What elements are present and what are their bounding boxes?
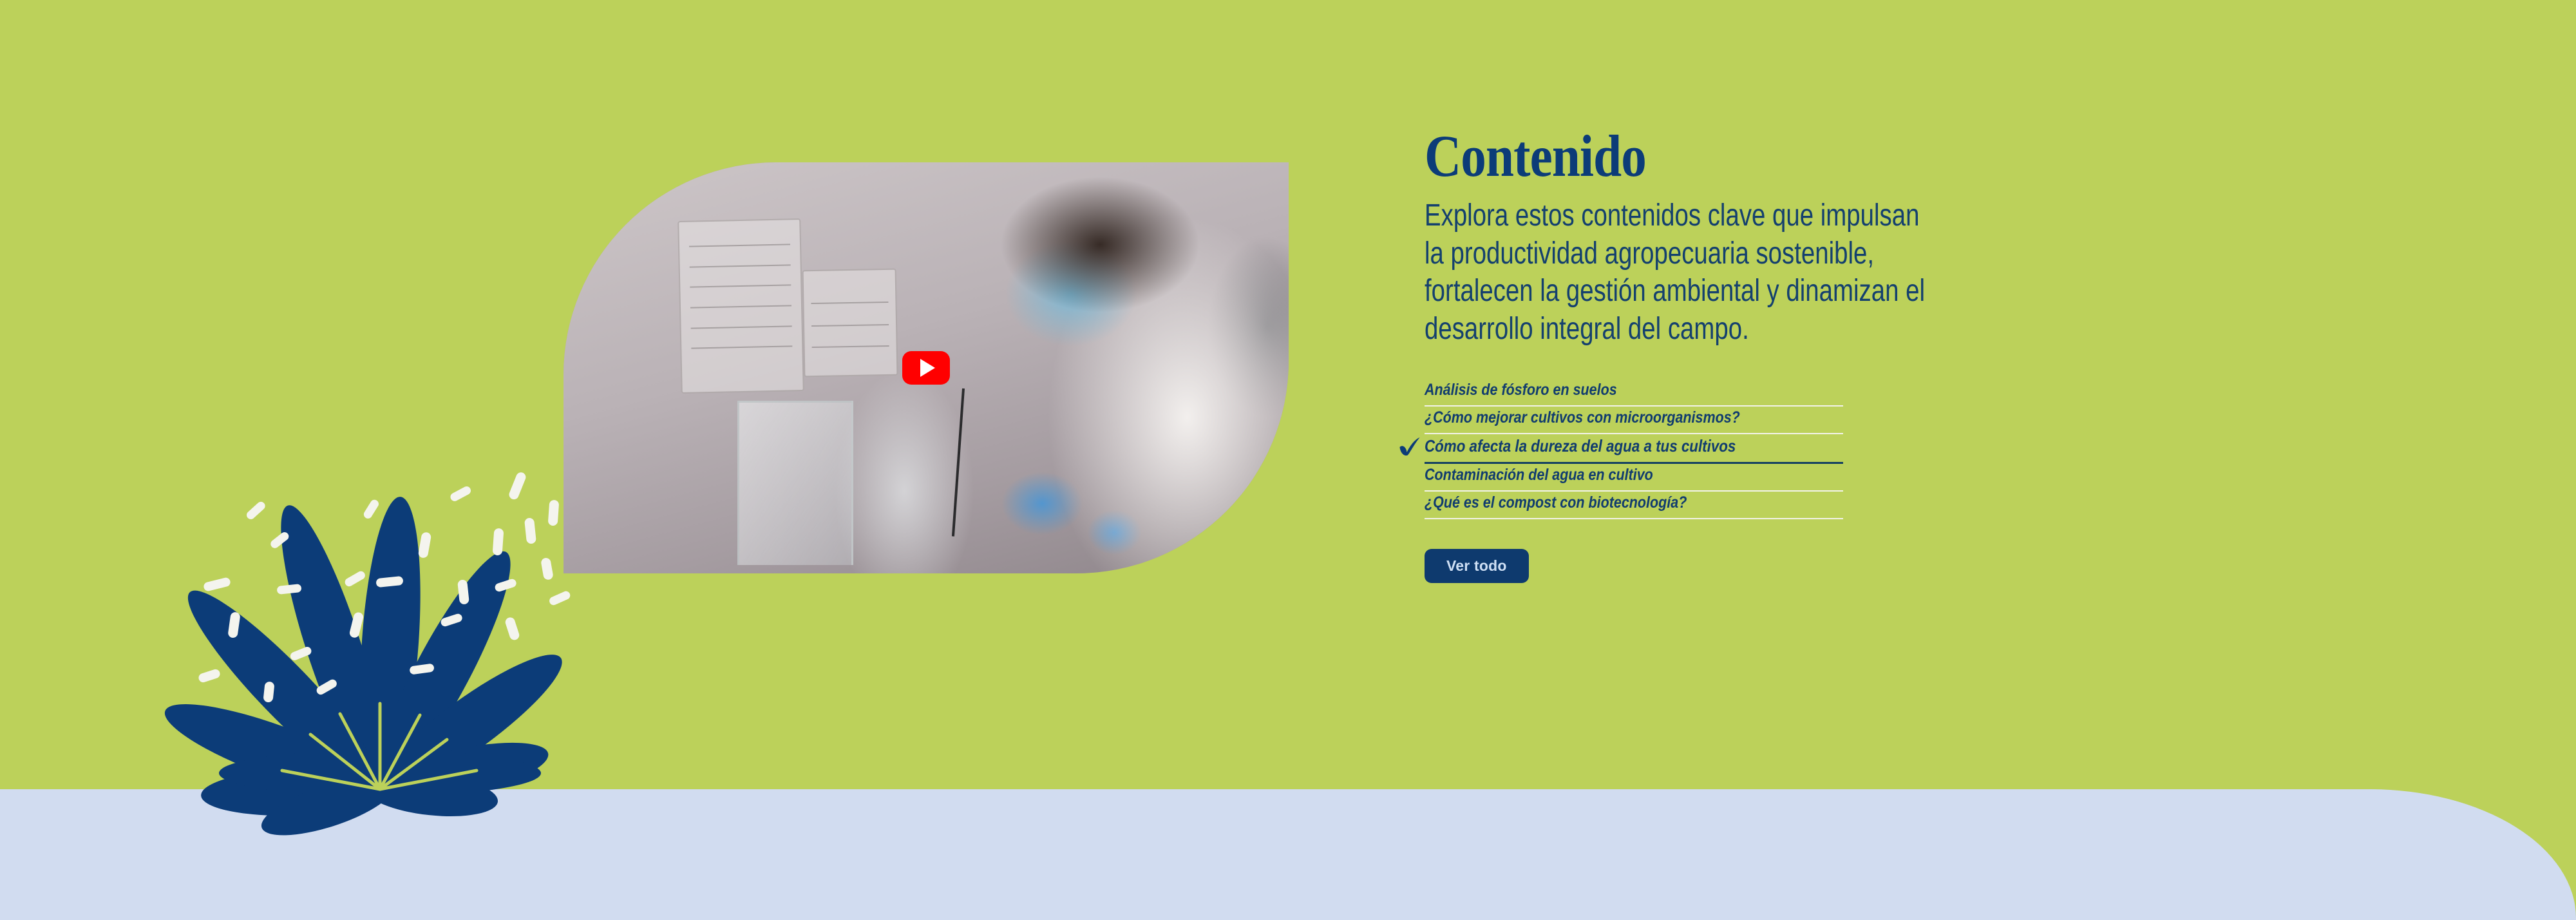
topic-list-item[interactable]: Análisis de fósforo en suelos	[1425, 379, 1843, 407]
leaf-bullet-icon	[1399, 437, 1421, 456]
topic-label: ¿Qué es el compost con biotecnología?	[1425, 494, 1687, 512]
topic-label: ¿Cómo mejorar cultivos con microorganism…	[1425, 408, 1740, 427]
see-all-button[interactable]: Ver todo	[1425, 549, 1529, 583]
content-column: Contenido Explora estos contenidos clave…	[1425, 126, 2004, 583]
topic-list-item[interactable]: Contaminación del agua en cultivo	[1425, 464, 1843, 492]
lab-glass-enclosure	[737, 401, 853, 565]
topic-label: Análisis de fósforo en suelos	[1425, 381, 1617, 399]
topic-label: Cómo afecta la dureza del agua a tus cul…	[1425, 436, 1736, 456]
topic-list-item[interactable]: ¿Qué es el compost con biotecnología?	[1425, 492, 1843, 519]
intro-paragraph: Explora estos contenidos clave que impul…	[1425, 197, 1944, 348]
video-thumbnail-card[interactable]	[563, 162, 1289, 573]
wall-poster-left	[677, 218, 804, 394]
play-triangle-icon	[920, 359, 935, 377]
topic-label: Contaminación del agua en cultivo	[1425, 466, 1653, 484]
topic-list-item[interactable]: ¿Cómo mejorar cultivos con microorganism…	[1425, 407, 1843, 434]
page-title: Contenido	[1425, 126, 1923, 186]
hero-section: Contenido Explora estos contenidos clave…	[0, 0, 2576, 920]
bottom-color-band	[0, 789, 2576, 920]
topic-list: Análisis de fósforo en suelos ¿Cómo mejo…	[1425, 379, 1843, 519]
youtube-play-icon[interactable]	[902, 351, 950, 385]
topic-list-item-active[interactable]: Cómo afecta la dureza del agua a tus cul…	[1425, 434, 1843, 464]
power-cable	[952, 388, 965, 536]
palm-fan-illustration	[167, 412, 631, 805]
wall-poster-right	[802, 269, 898, 377]
